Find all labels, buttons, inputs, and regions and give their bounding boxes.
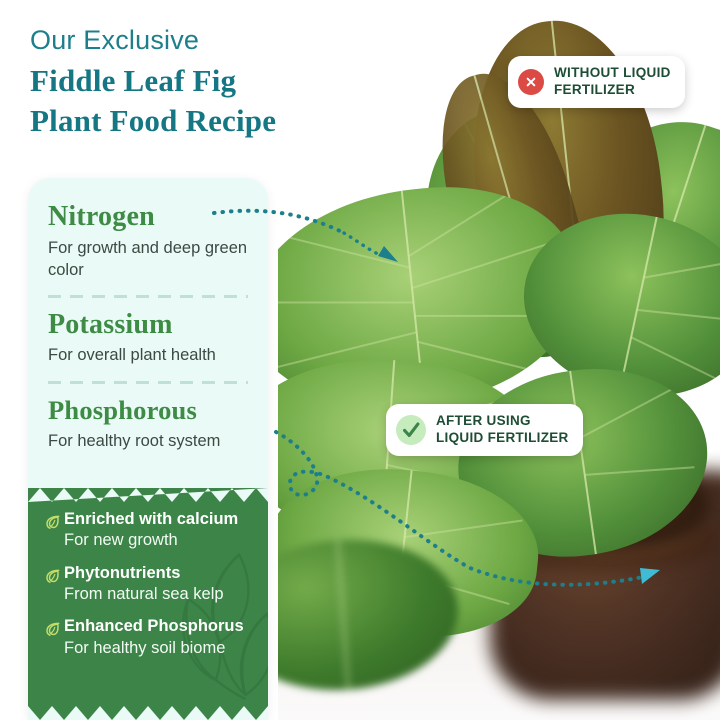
benefit-item-calcium: Enriched with calcium For new growth <box>42 510 252 551</box>
nutrient-name: Potassium <box>48 310 248 341</box>
benefit-sub: From natural sea kelp <box>64 584 252 604</box>
headline-title-line1: Fiddle Leaf Fig <box>30 61 410 101</box>
benefit-text: Enriched with calcium For new growth <box>64 510 252 551</box>
benefits-list: Enriched with calcium For new growth Phy… <box>28 510 268 671</box>
benefit-text: Phytonutrients From natural sea kelp <box>64 564 252 605</box>
leaf-icon <box>42 567 64 592</box>
x-circle-icon <box>518 69 544 95</box>
benefit-text: Enhanced Phosphorus For healthy soil bio… <box>64 617 252 658</box>
nutrient-name: Nitrogen <box>48 202 248 233</box>
divider-dashed <box>48 295 248 298</box>
headline-title-line2: Plant Food Recipe <box>30 101 410 141</box>
nutrient-desc: For healthy root system <box>48 431 248 453</box>
recipe-card: Nitrogen For growth and deep green color… <box>28 178 268 720</box>
benefit-title: Phytonutrients <box>64 564 180 582</box>
nutrient-desc: For overall plant health <box>48 345 248 367</box>
nutrient-list: Nitrogen For growth and deep green color… <box>28 178 268 452</box>
nutrient-item-potassium: Potassium For overall plant health <box>48 310 248 368</box>
nutrient-name: Phosphorous <box>48 396 248 425</box>
check-circle-icon <box>396 415 426 445</box>
badge-without-fertilizer[interactable]: WITHOUT LIQUID FERTILIZER <box>508 56 685 108</box>
headline-block: Our Exclusive Fiddle Leaf Fig Plant Food… <box>30 24 410 141</box>
benefit-title: Enhanced Phosphorus <box>64 617 244 635</box>
benefits-panel: Enriched with calcium For new growth Phy… <box>28 488 268 720</box>
benefit-title: Enriched with calcium <box>64 510 238 528</box>
benefit-item-phosphorus: Enhanced Phosphorus For healthy soil bio… <box>42 617 252 658</box>
benefit-item-phytonutrients: Phytonutrients From natural sea kelp <box>42 564 252 605</box>
benefit-sub: For new growth <box>64 530 252 550</box>
nutrient-item-nitrogen: Nitrogen For growth and deep green color <box>48 202 248 282</box>
zigzag-top-edge <box>28 488 268 502</box>
nutrient-item-phosphorous: Phosphorous For healthy root system <box>48 396 248 452</box>
benefit-sub: For healthy soil biome <box>64 638 252 658</box>
leaf-icon <box>42 513 64 538</box>
headline-title: Fiddle Leaf Fig Plant Food Recipe <box>30 61 410 140</box>
headline-kicker: Our Exclusive <box>30 24 410 56</box>
badge-label: AFTER USING LIQUID FERTILIZER <box>436 413 569 447</box>
nutrient-desc: For growth and deep green color <box>48 238 248 282</box>
badge-label: WITHOUT LIQUID FERTILIZER <box>554 65 671 99</box>
leaf-icon <box>42 620 64 645</box>
badge-after-fertilizer[interactable]: AFTER USING LIQUID FERTILIZER <box>386 404 583 456</box>
infographic-root: Our Exclusive Fiddle Leaf Fig Plant Food… <box>0 0 720 720</box>
divider-dashed <box>48 381 248 384</box>
